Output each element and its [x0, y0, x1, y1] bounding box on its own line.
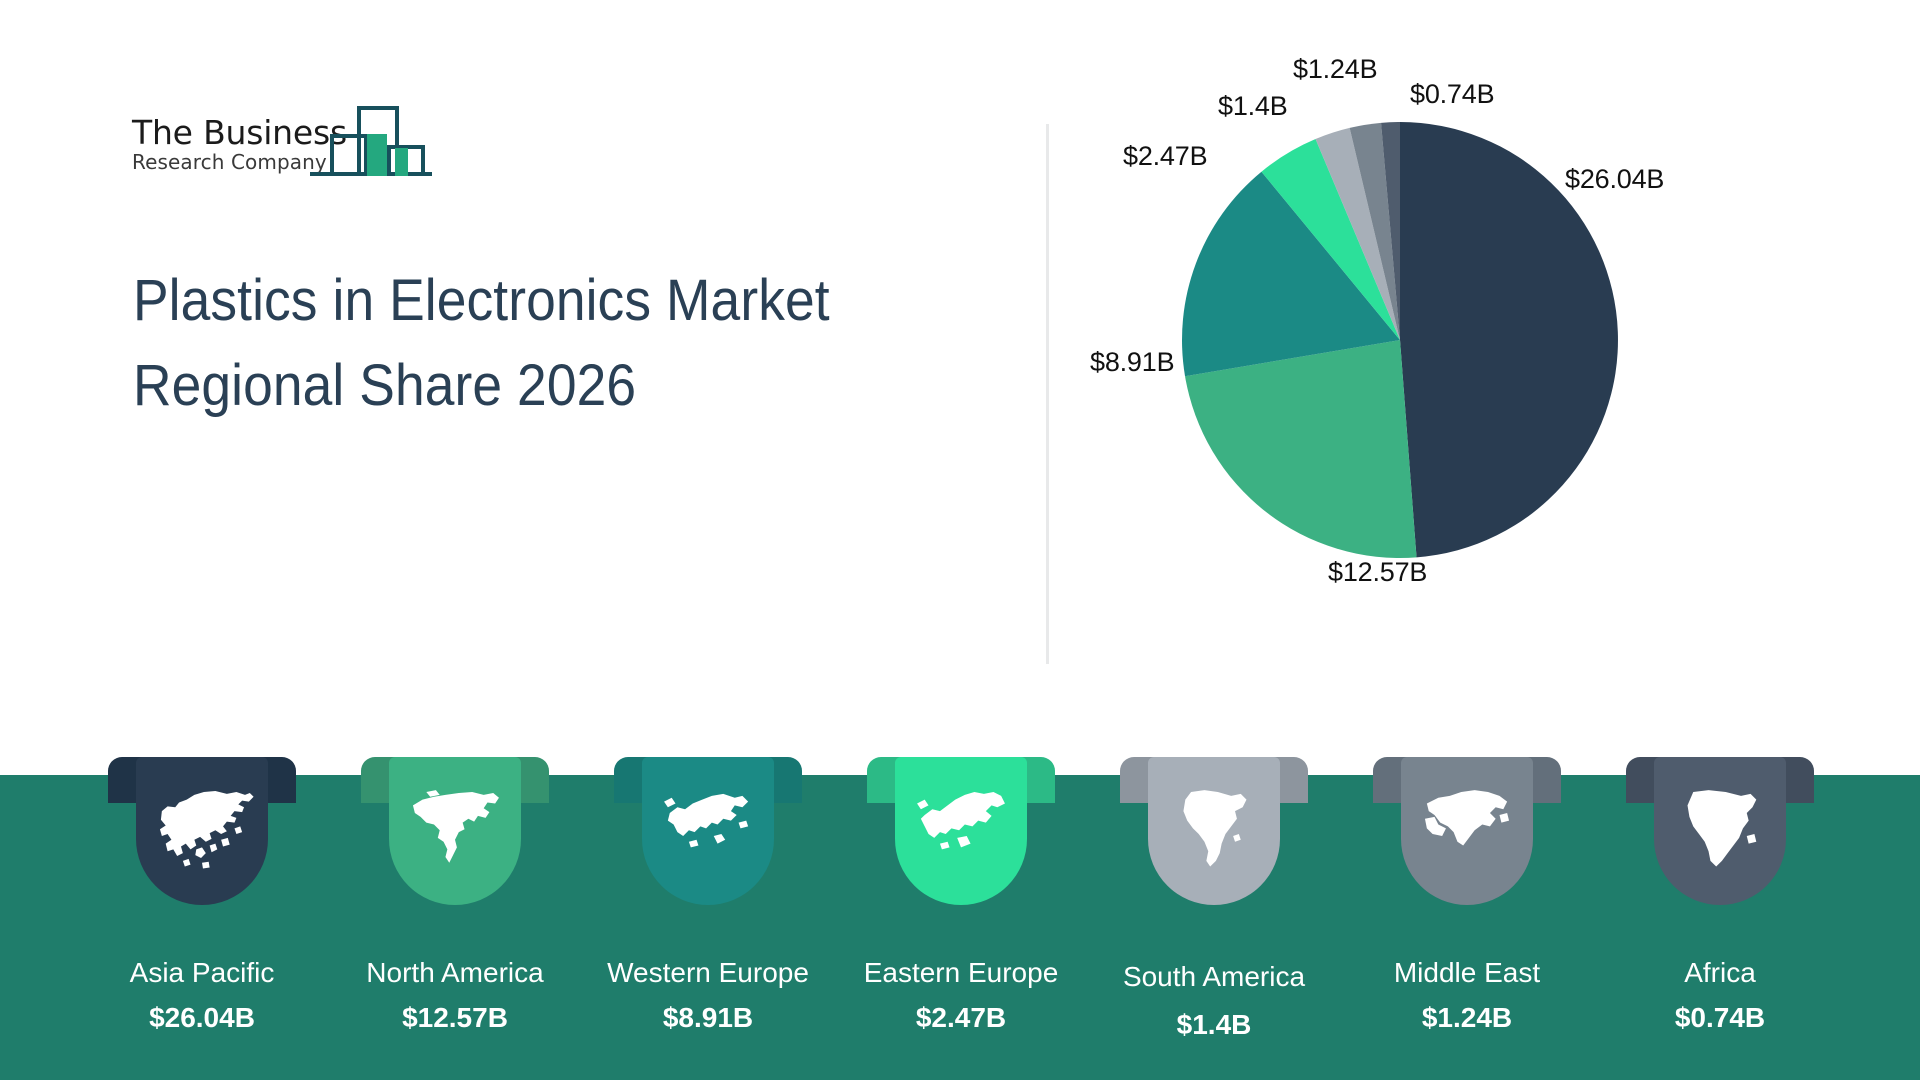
- badge-region-name: North America: [333, 957, 577, 989]
- badge-shield: [642, 757, 774, 905]
- vertical-divider: [1046, 124, 1049, 664]
- badge-region-value: $0.74B: [1598, 1002, 1842, 1034]
- badge-region-value: $1.24B: [1345, 1002, 1589, 1034]
- badge-region-name: Middle East: [1345, 957, 1589, 989]
- badge-shield: [136, 757, 268, 905]
- asia-pacific-map-icon: [150, 786, 254, 872]
- pie-slice-north-america: [1185, 340, 1417, 558]
- middle-east-map-icon: [1415, 786, 1519, 872]
- badge-region-value: $8.91B: [586, 1002, 830, 1034]
- infographic-page: The Business Research Company Plastics i…: [0, 0, 1920, 1080]
- pie-label-north-america: $12.57B: [1328, 557, 1427, 588]
- western-europe-map-icon: [656, 786, 760, 872]
- region-badge-middle-east[interactable]: Middle East$1.24B: [1373, 757, 1561, 1057]
- badge-region-name: Western Europe: [586, 957, 830, 989]
- bar-chart-logo-icon: [310, 104, 432, 184]
- badge-shield: [1401, 757, 1533, 905]
- south-america-map-icon: [1162, 786, 1266, 872]
- badge-shield: [1654, 757, 1786, 905]
- badge-region-value: $2.47B: [839, 1002, 1083, 1034]
- pie-label-africa: $0.74B: [1410, 79, 1494, 110]
- africa-map-icon: [1668, 786, 1772, 872]
- pie-chart: $26.04B$12.57B$8.91B$2.47B$1.4B$1.24B$0.…: [1180, 120, 1800, 700]
- badge-region-name: Africa: [1598, 957, 1842, 989]
- region-badge-western-europe[interactable]: Western Europe$8.91B: [614, 757, 802, 1057]
- pie-label-middle-east: $1.24B: [1293, 54, 1377, 85]
- region-badge-north-america[interactable]: North America$12.57B: [361, 757, 549, 1057]
- badge-region-name: Asia Pacific: [80, 957, 324, 989]
- pie-label-south-america: $1.4B: [1218, 91, 1288, 122]
- page-title: Plastics in Electronics Market Regional …: [133, 258, 869, 429]
- pie-label-eastern-europe: $2.47B: [1123, 141, 1207, 172]
- region-badge-africa[interactable]: Africa$0.74B: [1626, 757, 1814, 1057]
- pie-label-asia-pacific: $26.04B: [1565, 164, 1664, 195]
- pie-chart-svg: [1180, 120, 1620, 560]
- region-badge-asia-pacific[interactable]: Asia Pacific$26.04B: [108, 757, 296, 1057]
- badge-region-name: South America: [1092, 961, 1336, 993]
- region-badge-eastern-europe[interactable]: Eastern Europe$2.47B: [867, 757, 1055, 1057]
- badge-shield: [895, 757, 1027, 905]
- badge-shield: [389, 757, 521, 905]
- badge-region-name: Eastern Europe: [839, 957, 1083, 989]
- company-logo: The Business Research Company: [132, 104, 432, 188]
- pie-label-western-europe: $8.91B: [1090, 347, 1174, 378]
- region-badge-south-america[interactable]: South America$1.4B: [1120, 757, 1308, 1057]
- badge-shield: [1148, 757, 1280, 905]
- badge-region-value: $1.4B: [1092, 1009, 1336, 1041]
- badge-region-value: $26.04B: [80, 1002, 324, 1034]
- north-america-map-icon: [403, 786, 507, 872]
- eastern-europe-map-icon: [909, 786, 1013, 872]
- badge-region-value: $12.57B: [333, 1002, 577, 1034]
